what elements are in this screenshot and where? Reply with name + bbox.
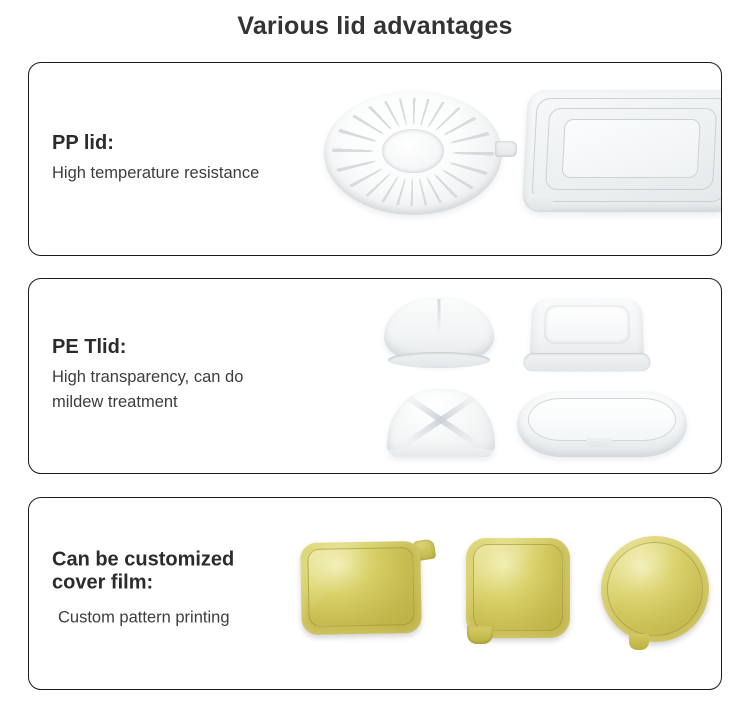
pp-lid-subtitle: High temperature resistance <box>52 161 259 187</box>
round-ribbed-pp-lid <box>324 91 502 215</box>
gold-circle-pull-tab <box>629 634 649 650</box>
pe-tlid-subtitle: High transparency, can do mildew treatme… <box>52 365 243 416</box>
gold-rectangular-foil-lid <box>300 541 422 635</box>
square-pe-dome-lid <box>529 299 644 368</box>
pp-rect-ring-inner <box>562 119 701 178</box>
pp-lid-center-disc <box>382 129 444 173</box>
advantage-panel-list: PP lid: High temperature resistance PE T… <box>28 62 722 690</box>
pe-tlid-text-block: PE Tlid: High transparency, can do milde… <box>52 336 243 416</box>
panel-cover-film: Can be customized cover film: Custom pat… <box>28 497 722 690</box>
panel-pp-lid: PP lid: High temperature resistance <box>28 62 722 256</box>
gold-square-foil-lid <box>466 538 570 638</box>
pp-lid-pull-tab <box>495 141 517 157</box>
gold-round-foil-lid <box>601 536 709 642</box>
pe-square-top-face <box>544 305 631 344</box>
gold-square-pull-tab <box>467 626 493 644</box>
pe-dome-base-rim <box>387 447 495 457</box>
pp-lid-text-block: PP lid: High temperature resistance <box>52 132 259 186</box>
pp-lid-heading: PP lid: <box>52 132 259 156</box>
pp-rect-corner-notch <box>525 194 554 210</box>
round-pe-dome-lid <box>387 389 495 457</box>
oval-pe-flat-lid <box>517 391 687 457</box>
cover-film-subtitle: Custom pattern printing <box>52 600 234 631</box>
page-title: Various lid advantages <box>0 0 750 41</box>
pe-tlid-heading: PE Tlid: <box>52 336 243 360</box>
cover-film-heading: Can be customized cover film: <box>52 548 234 595</box>
pe-square-flange <box>523 353 651 371</box>
cover-film-text-block: Can be customized cover film: Custom pat… <box>52 548 234 631</box>
panel-pe-tlid: PE Tlid: High transparency, can do milde… <box>28 278 722 474</box>
heart-shaped-pe-dome-lid <box>384 297 494 365</box>
